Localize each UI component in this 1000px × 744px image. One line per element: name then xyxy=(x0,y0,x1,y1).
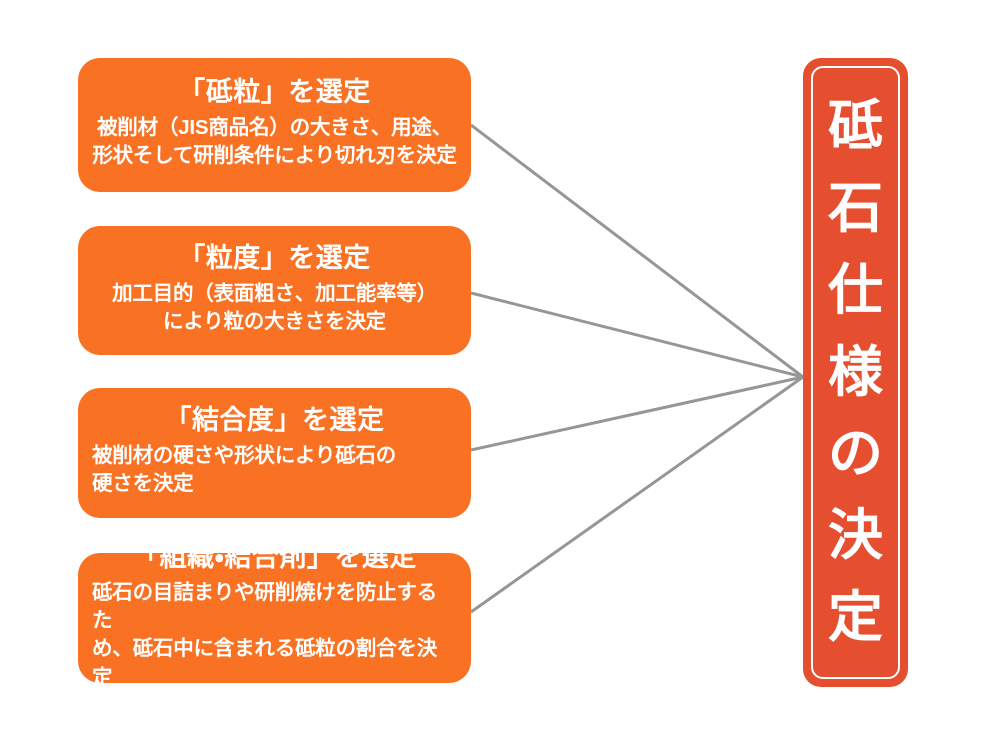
step-body-grade: 被削材の硬さや形状により砥石の 硬さを決定 xyxy=(92,442,457,499)
step-body-line: により粒の大きさを決定 xyxy=(92,308,457,336)
connector-line-2 xyxy=(471,293,803,377)
step-body-line: 硬さを決定 xyxy=(92,470,457,498)
step-box-grade[interactable]: 「結合度」を選定 被削材の硬さや形状により砥石の 硬さを決定 xyxy=(78,388,471,518)
step-body-line: め、砥石中に含まれる砥粒の割合を決定 xyxy=(92,635,457,692)
result-title-char: 仕 xyxy=(828,250,883,332)
result-panel-title-vertical: 砥 石 仕 様 の 決 定 xyxy=(828,86,883,660)
result-title-char: 決 xyxy=(828,495,883,577)
step-body-abrasive-grain: 被削材（JIS商品名）の大きさ、用途、 形状そして研削条件により切れ刃を決定 xyxy=(92,114,457,171)
result-title-char: 定 xyxy=(828,577,883,659)
step-box-abrasive-grain[interactable]: 「砥粒」を選定 被削材（JIS商品名）の大きさ、用途、 形状そして研削条件により… xyxy=(78,58,471,192)
step-body-line: 加工目的（表面粗さ、加工能率等） xyxy=(92,280,457,308)
step-title-structure-bond: 「組織・結合剤」を選定 xyxy=(92,542,457,574)
step-body-grain-size: 加工目的（表面粗さ、加工能率等） により粒の大きさを決定 xyxy=(92,280,457,337)
step-box-grain-size[interactable]: 「粒度」を選定 加工目的（表面粗さ、加工能率等） により粒の大きさを決定 xyxy=(78,226,471,355)
result-panel-grinding-wheel-spec[interactable]: 砥 石 仕 様 の 決 定 xyxy=(803,58,908,687)
result-title-char: の xyxy=(828,413,883,495)
step-body-line: 砥石の目詰まりや研削焼けを防止するた xyxy=(92,579,457,636)
process-flow-diagram: 「砥粒」を選定 被削材（JIS商品名）の大きさ、用途、 形状そして研削条件により… xyxy=(0,0,1000,744)
step-box-structure-bond[interactable]: 「組織・結合剤」を選定 砥石の目詰まりや研削焼けを防止するた め、砥石中に含まれ… xyxy=(78,553,471,683)
step-title-grain-size: 「粒度」を選定 xyxy=(92,243,457,275)
step-title-grade: 「結合度」を選定 xyxy=(92,405,457,437)
connector-lines xyxy=(471,125,803,612)
result-title-char: 石 xyxy=(828,168,883,250)
connector-line-1 xyxy=(471,125,803,377)
step-body-line: 被削材（JIS商品名）の大きさ、用途、 xyxy=(92,114,457,142)
step-body-line: 被削材の硬さや形状により砥石の xyxy=(92,442,457,470)
step-title-abrasive-grain: 「砥粒」を選定 xyxy=(92,77,457,109)
result-title-char: 様 xyxy=(828,332,883,414)
result-title-char: 砥 xyxy=(828,86,883,168)
result-panel-inner-border: 砥 石 仕 様 の 決 定 xyxy=(811,66,900,679)
step-body-structure-bond: 砥石の目詰まりや研削焼けを防止するた め、砥石中に含まれる砥粒の割合を決定 xyxy=(92,579,457,692)
step-body-line: 形状そして研削条件により切れ刃を決定 xyxy=(92,142,457,170)
